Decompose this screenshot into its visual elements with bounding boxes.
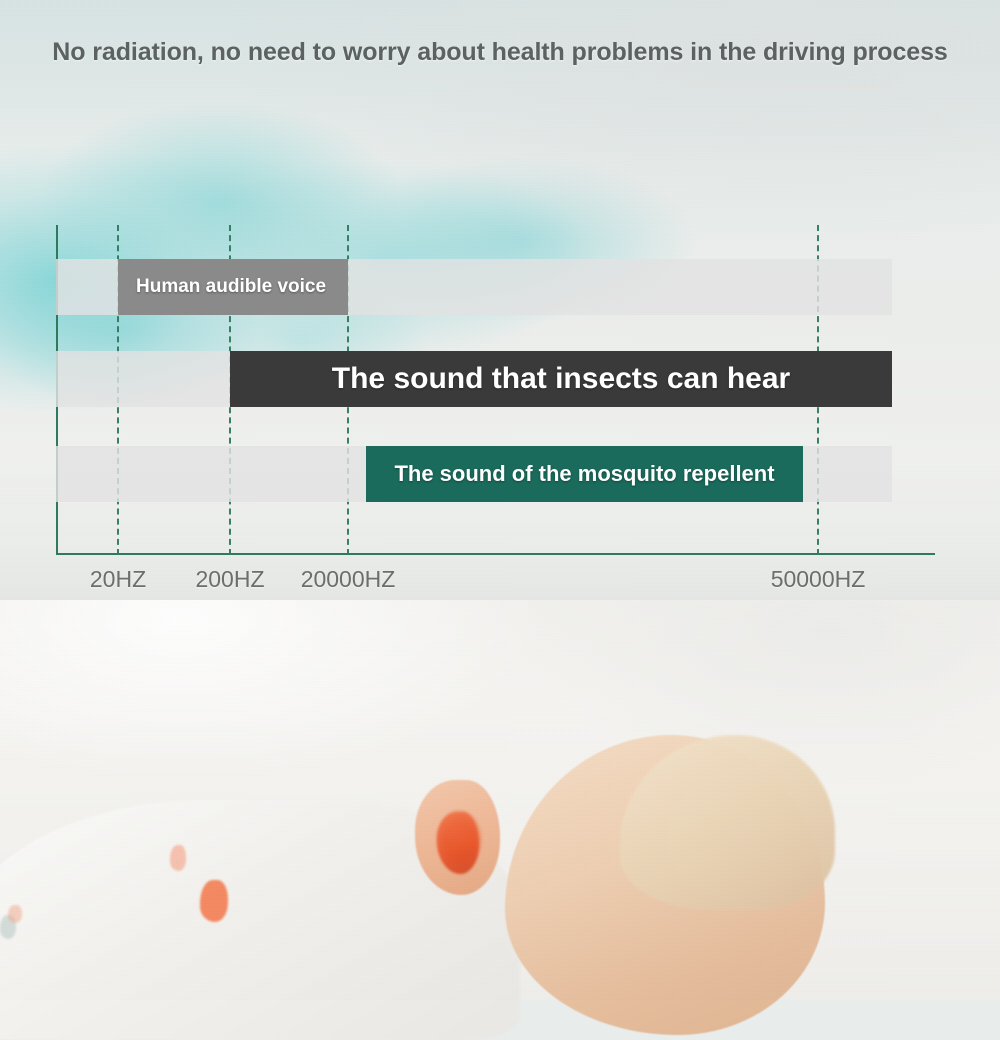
- bar-label: Human audible voice: [118, 276, 326, 298]
- x-tick-50000hz: 50000HZ: [771, 566, 866, 593]
- baby-ear-inner: [437, 812, 479, 874]
- bar-label: The sound that insects can hear: [332, 362, 790, 396]
- x-tick-20hz: 20HZ: [90, 566, 146, 593]
- chart-x-axis: [56, 553, 935, 555]
- bar-label: The sound of the mosquito repellent: [394, 461, 774, 487]
- x-tick-200hz: 200HZ: [195, 566, 264, 593]
- bar-insect-audible-sound: The sound that insects can hear: [230, 351, 892, 407]
- bar-human-audible-voice: Human audible voice: [118, 259, 348, 315]
- pajama-pattern-dot: [200, 880, 228, 922]
- pajama-pattern-dot: [8, 905, 22, 923]
- x-tick-20000hz: 20000HZ: [301, 566, 396, 593]
- frequency-range-chart: Human audible voice The sound that insec…: [0, 0, 1000, 620]
- bar-mosquito-repellent-sound: The sound of the mosquito repellent: [366, 446, 803, 502]
- pajama-pattern-dot: [170, 845, 186, 871]
